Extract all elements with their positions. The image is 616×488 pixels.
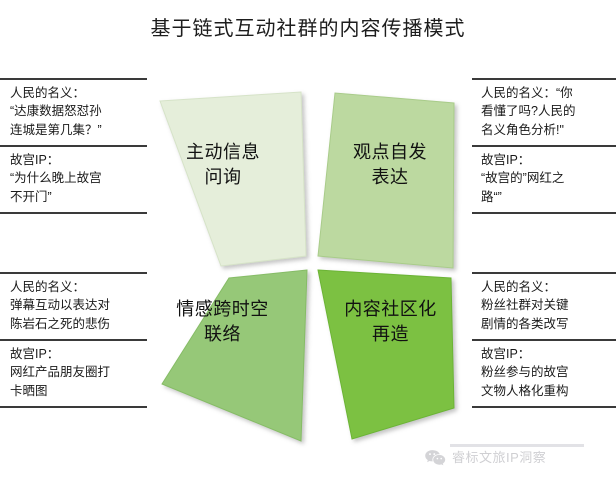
annotation-title: 故宫IP： — [10, 151, 139, 169]
annotation-item: 故宫IP： 网红产品朋友圈打 卡晒图 — [0, 339, 147, 406]
page-title: 基于链式互动社群的内容传播模式 — [0, 16, 616, 42]
annotation-item: 故宫IP： “故宫的”网红之 路“” — [472, 145, 616, 212]
annotation-title: 人民的名义： — [481, 278, 612, 296]
diagram-canvas: 基于链式互动社群的内容传播模式 主动信息 问询 观点自发 表达 情感跨时空 联络… — [0, 0, 616, 488]
annotation-body: 粉丝社群对关键 剧情的各类改写 — [481, 296, 612, 334]
annotation-body: 粉丝参与的故宫 文物人格化重构 — [481, 363, 612, 401]
annotation-item: 人民的名义：“你 看懂了吗?人民的 名义角色分析!" — [472, 80, 616, 145]
four-quadrant-diagram — [148, 88, 468, 448]
annotation-title: 人民的名义： — [10, 278, 139, 296]
annotation-body: “达康数据怒怼孙 连城是第几集？” — [10, 102, 139, 140]
annotation-group-left-top: 人民的名义： “达康数据怒怼孙 连城是第几集？” 故宫IP： “为什么晚上故宫 … — [0, 78, 147, 214]
annotation-item: 人民的名义： 粉丝社群对关键 剧情的各类改写 — [472, 274, 616, 339]
annotation-group-right-top: 人民的名义：“你 看懂了吗?人民的 名义角色分析!" 故宫IP： “故宫的”网红… — [472, 78, 616, 214]
annotation-item: 故宫IP： 粉丝参与的故宫 文物人格化重构 — [472, 339, 616, 406]
watermark: 睿标文旅IP洞察 — [424, 449, 546, 467]
watermark-text: 睿标文旅IP洞察 — [452, 449, 546, 467]
annotation-title: 故宫IP： — [10, 345, 139, 363]
quadrant-bottom-left[interactable] — [162, 270, 307, 441]
quadrant-top-right[interactable] — [318, 93, 454, 268]
annotation-title: 人民的名义： — [10, 84, 139, 102]
annotation-body: 弹幕互动以表达对 陈岩石之死的悲伤 — [10, 296, 139, 334]
annotation-title: 故宫IP： — [481, 151, 612, 169]
annotation-body: 网红产品朋友圈打 卡晒图 — [10, 363, 139, 401]
annotation-body: “为什么晚上故宫 不开门” — [10, 169, 139, 207]
annotation-item: 人民的名义： “达康数据怒怼孙 连城是第几集？” — [0, 80, 147, 145]
quadrant-top-left[interactable] — [160, 92, 306, 266]
annotation-item: 人民的名义： 弹幕互动以表达对 陈岩石之死的悲伤 — [0, 274, 147, 339]
watermark-divider — [450, 444, 584, 447]
annotation-group-left-bottom: 人民的名义： 弹幕互动以表达对 陈岩石之死的悲伤 故宫IP： 网红产品朋友圈打 … — [0, 272, 147, 408]
annotation-title: 故宫IP： — [481, 345, 612, 363]
quadrant-bottom-right[interactable] — [318, 270, 454, 439]
annotation-group-right-bottom: 人民的名义： 粉丝社群对关键 剧情的各类改写 故宫IP： 粉丝参与的故宫 文物人… — [472, 272, 616, 408]
annotation-item: 故宫IP： “为什么晚上故宫 不开门” — [0, 145, 147, 212]
annotation-body: 看懂了吗?人民的 名义角色分析!" — [481, 102, 612, 140]
wechat-icon — [424, 449, 446, 467]
annotation-title: 人民的名义：“你 — [481, 84, 612, 102]
annotation-body: “故宫的”网红之 路“” — [481, 169, 612, 207]
